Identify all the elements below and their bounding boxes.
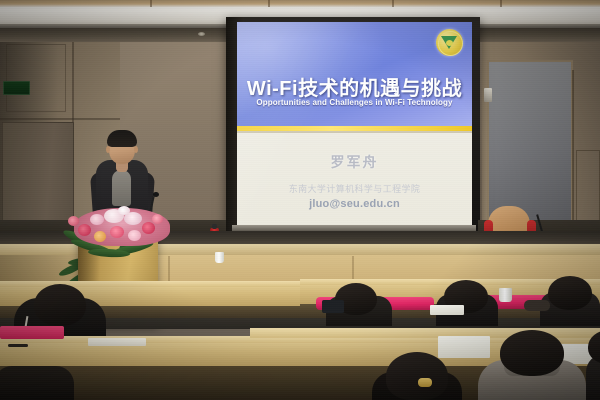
ceiling-seam [150, 0, 152, 7]
lecture-hall-scene: Wi-Fi技术的机遇与挑战 Opportunities and Challeng… [0, 0, 600, 400]
speaker-ear [106, 146, 110, 153]
ceiling-seam [268, 0, 270, 7]
attendee-head [386, 352, 448, 400]
pink-notebook [0, 326, 64, 339]
ceiling-seam [500, 0, 502, 7]
panel-bracket [484, 88, 492, 102]
logo-center [446, 40, 453, 46]
attendee-arm [524, 300, 550, 311]
slide-speaker-name: 罗军舟 [237, 152, 472, 172]
fire-extinguisher-valve [212, 224, 217, 229]
ceiling-seam [392, 0, 394, 7]
speaker-sweater [112, 170, 131, 206]
exit-sign [3, 81, 30, 95]
desk-papers [438, 336, 490, 358]
flower-pink [68, 216, 79, 226]
desk-cup [499, 288, 512, 302]
flower-white [118, 206, 130, 215]
flower-red [142, 222, 155, 234]
slide-email: jluo@seu.edu.cn [237, 198, 472, 210]
slide-subtitle: Opportunities and Challenges in Wi-Fi Te… [237, 98, 472, 107]
flower-pink [90, 214, 104, 225]
slide-title: Wi-Fi技术的机遇与挑战 [237, 72, 472, 101]
flower-red [78, 224, 91, 236]
attendee-head [500, 330, 564, 376]
desk-papers [88, 338, 146, 346]
stage-cup [215, 252, 224, 263]
desk-tablet [322, 300, 344, 313]
slide-affiliation: 东南大学计算机科学与工程学院 [237, 182, 472, 195]
attendee-head [548, 276, 592, 310]
pen [8, 344, 28, 347]
projection-screen: Wi-Fi技术的机遇与挑战 Opportunities and Challeng… [237, 22, 472, 225]
speaker-hair [107, 130, 137, 147]
attendee-torso [0, 366, 74, 400]
slide-divider-grey [237, 131, 472, 133]
wall-trim-line [572, 70, 574, 232]
ceiling-fixture [198, 32, 205, 36]
podium-microphone-head [153, 192, 159, 197]
presentation-slide: Wi-Fi技术的机遇与挑战 Opportunities and Challeng… [237, 22, 472, 225]
flower-orange [94, 231, 106, 242]
hair-clip [418, 378, 432, 387]
flower-pink [152, 214, 163, 224]
desk-papers [430, 305, 464, 315]
ceiling-upper-band [0, 0, 600, 7]
university-logo-icon [436, 29, 463, 56]
flower-pink [110, 226, 124, 238]
wall-panel [6, 44, 66, 112]
wall-trim-line [0, 118, 120, 120]
flower-pink [128, 230, 141, 241]
attendee-head [34, 284, 86, 326]
speaker-ear [134, 146, 138, 153]
desk-surface [0, 281, 300, 287]
